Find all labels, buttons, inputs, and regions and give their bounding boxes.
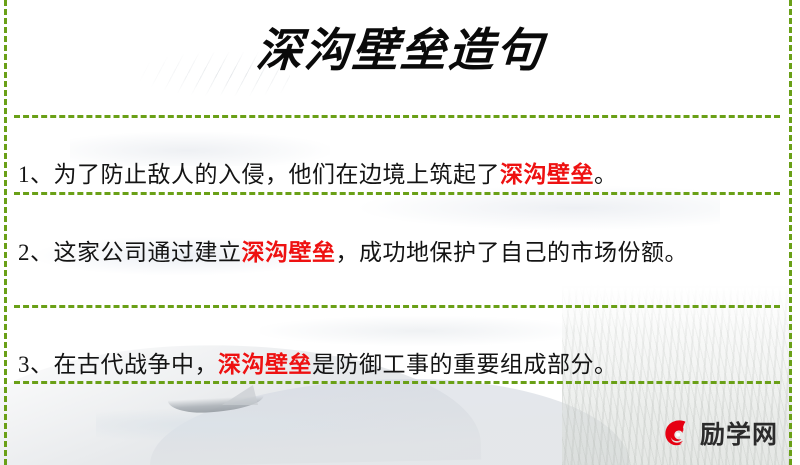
watermark-brand-text: 励学网 [700, 422, 778, 447]
sentence-text-before-2: 这家公司通过建立 [54, 240, 242, 265]
page-title: 深沟壁垒造句 [0, 22, 800, 80]
content-area: 深沟壁垒造句 1、为了防止敌人的入侵，他们在边境上筑起了深沟壁垒。 2、这家公司… [0, 0, 800, 465]
sentence-text-before-1: 为了防止敌人的入侵，他们在边境上筑起了 [54, 162, 501, 187]
idiom-highlight-1: 深沟壁垒 [500, 161, 594, 188]
divider-between-1-and-2 [14, 192, 780, 195]
example-sentence-1: 1、为了防止敌人的入侵，他们在边境上筑起了深沟壁垒。 [18, 155, 774, 195]
divider-bottom [14, 381, 780, 384]
sentence-text-before-3: 在古代战争中， [54, 352, 219, 377]
sentence-number-2: 2、 [18, 240, 54, 265]
frame-border-right [789, 0, 792, 465]
sentence-text-after-1: 。 [594, 162, 618, 187]
idiom-highlight-2: 深沟壁垒 [242, 239, 336, 266]
example-sentence-3: 3、在古代战争中，深沟壁垒是防御工事的重要组成部分。 [18, 345, 774, 385]
flame-swirl-icon [659, 417, 693, 451]
sentence-number-3: 3、 [18, 352, 54, 377]
site-watermark: 励学网 [659, 417, 778, 451]
sentence-text-after-3: 是防御工事的重要组成部分。 [312, 352, 618, 377]
idiom-highlight-3: 深沟壁垒 [218, 351, 312, 378]
worksheet-page: 深沟壁垒造句 1、为了防止敌人的入侵，他们在边境上筑起了深沟壁垒。 2、这家公司… [0, 0, 800, 465]
frame-border-left [4, 0, 7, 465]
divider-top [14, 115, 780, 118]
example-sentence-2: 2、这家公司通过建立深沟壁垒，成功地保护了自己的市场份额。 [18, 233, 774, 273]
sentence-number-1: 1、 [18, 162, 54, 187]
divider-between-2-and-3 [14, 305, 780, 308]
sentence-text-after-2: ，成功地保护了自己的市场份额。 [336, 240, 689, 265]
